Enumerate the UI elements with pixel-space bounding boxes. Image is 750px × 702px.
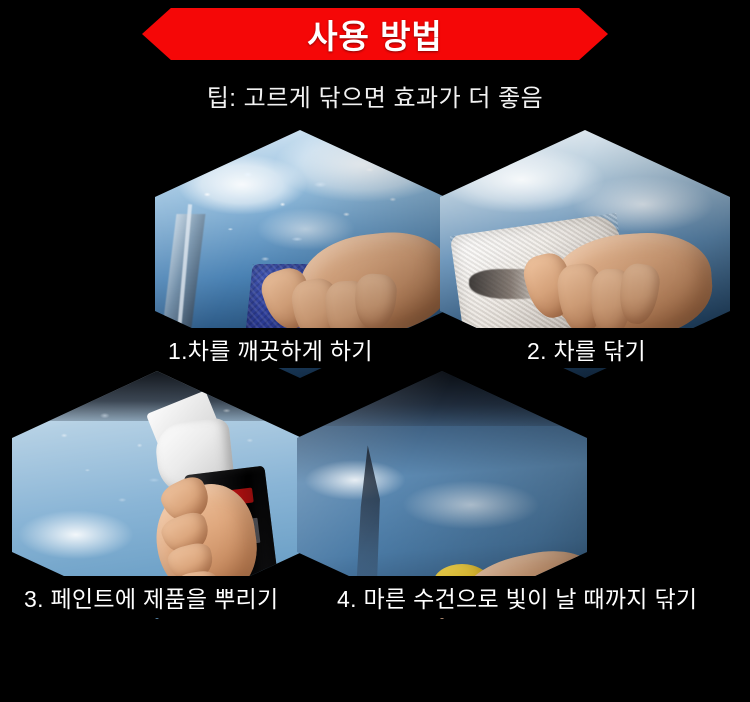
section-banner: 사용 방법 xyxy=(142,8,608,60)
banner-title: 사용 방법 xyxy=(142,8,608,60)
step-3-caption: 3. 페인트에 제품을 뿌리기 xyxy=(24,580,278,614)
step-1-caption: 1.차를 깨끗하게 하기 xyxy=(168,332,373,366)
step-4-caption: 4. 마른 수건으로 빛이 날 때까지 닦기 xyxy=(337,580,697,614)
tip-subtitle: 팁: 고르게 닦으면 효과가 더 좋음 xyxy=(0,78,750,113)
step-2-caption: 2. 차를 닦기 xyxy=(527,332,646,366)
usage-instructions-page: 사용 방법 팁: 고르게 닦으면 효과가 더 좋음 xyxy=(0,0,750,702)
